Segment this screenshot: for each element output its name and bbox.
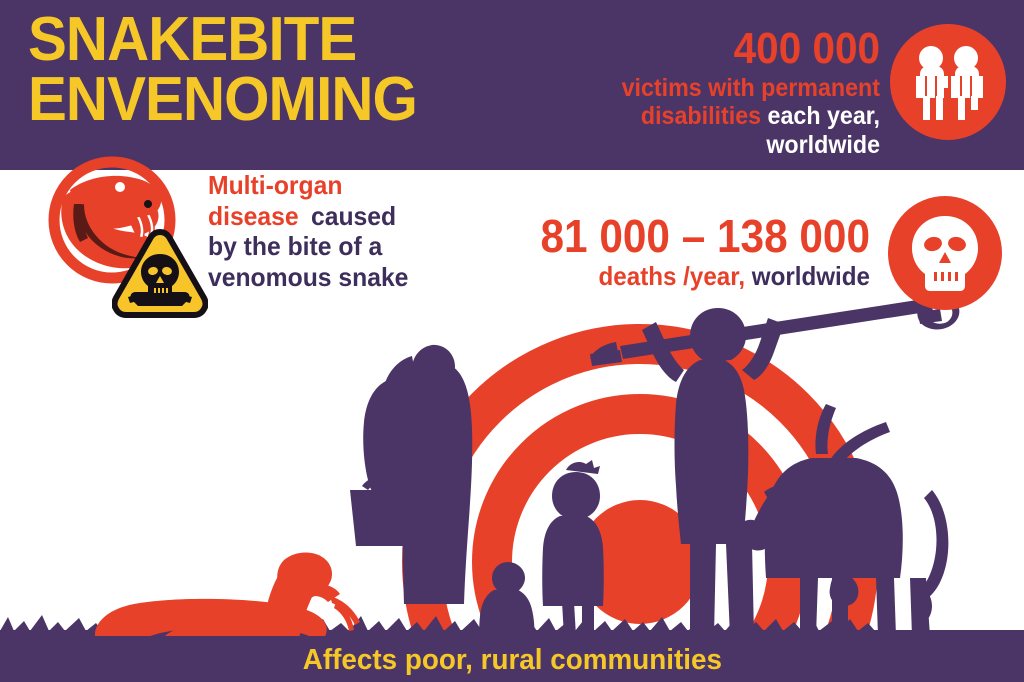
definition-line-2-purple: caused bbox=[311, 201, 396, 232]
deaths-stat-block: 81 000 – 138 000 deaths /year, worldwide bbox=[470, 212, 870, 291]
title-line-1: SNAKEBITE bbox=[28, 10, 517, 70]
infographic-poster: SNAKEBITE ENVENOMING 400 000 victims wit… bbox=[0, 0, 1024, 682]
definition-line-2-red: disease bbox=[208, 201, 299, 232]
disability-stat-block: 400 000 victims with permanent disabilit… bbox=[520, 26, 880, 158]
standing-child-silhouette bbox=[542, 460, 604, 636]
footer-caption-text: Affects poor, rural communities bbox=[302, 644, 721, 677]
disability-stat-line2: victims with permanent bbox=[545, 75, 880, 102]
deaths-stat-number: 81 000 – 138 000 bbox=[502, 212, 870, 260]
page-title: SNAKEBITE ENVENOMING bbox=[28, 10, 548, 130]
definition-line-4: venomous snake bbox=[208, 262, 408, 293]
deaths-stat-sub: deaths /year, worldwide bbox=[498, 263, 870, 290]
definition-line-3: by the bite of a bbox=[208, 231, 382, 262]
definition-line-1: Multi-organ bbox=[208, 170, 342, 201]
deaths-stat-sub-red: deaths /year, bbox=[599, 261, 746, 291]
definition-text: Multi-organ disease caused by the bite o… bbox=[208, 170, 478, 293]
two-people-disability-icon bbox=[890, 24, 1006, 140]
disability-stat-line4: worldwide bbox=[545, 132, 880, 159]
disability-stat-line3-white: each year, bbox=[768, 102, 880, 130]
title-line-2: ENVENOMING bbox=[28, 70, 517, 130]
deaths-stat-sub-purple: worldwide bbox=[752, 261, 870, 291]
skull-icon bbox=[888, 196, 1002, 310]
toxic-hazard-triangle-icon bbox=[112, 228, 208, 318]
disability-stat-line3-red: disabilities bbox=[641, 102, 761, 130]
footer-caption: Affects poor, rural communities bbox=[0, 644, 1024, 677]
disability-stat-line3: disabilities each year, bbox=[545, 103, 880, 130]
disability-stat-number: 400 000 bbox=[549, 26, 880, 73]
